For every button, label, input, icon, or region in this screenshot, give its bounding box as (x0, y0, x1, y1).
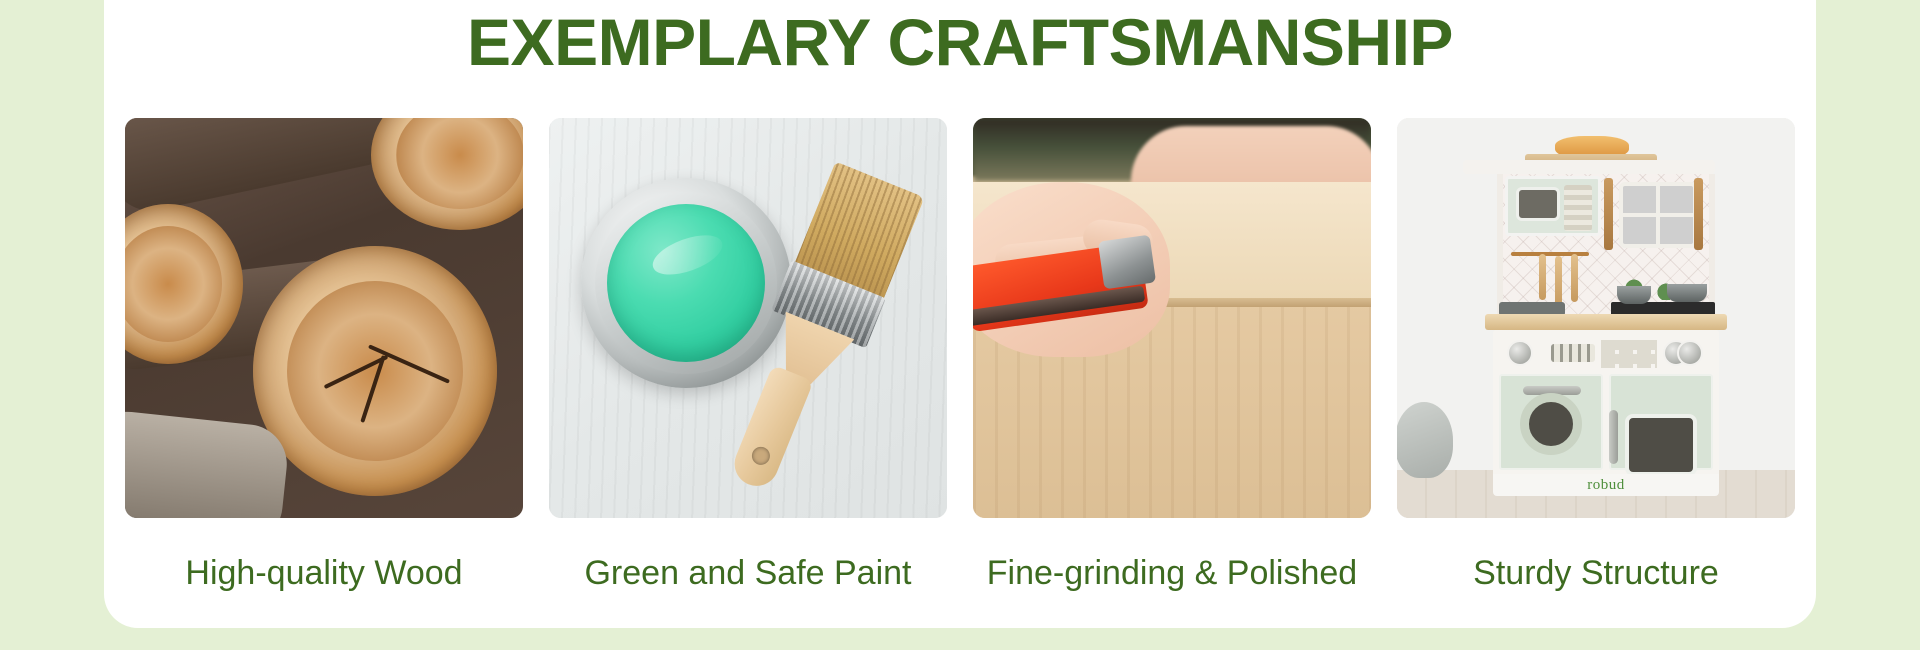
toy-pot (1667, 284, 1707, 302)
brand-logo: robud (1587, 477, 1625, 494)
utensil (1539, 254, 1546, 300)
log-bar (125, 118, 413, 218)
feature-caption: High-quality Wood (185, 554, 462, 593)
paint-gloss (648, 227, 727, 282)
toy-microwave (1505, 176, 1601, 236)
log-end-main (253, 246, 497, 496)
paint-photo (549, 118, 947, 518)
feature-tile-list: High-quality Wood (104, 118, 1816, 593)
logs-photo (125, 118, 523, 518)
sanding-photo (973, 118, 1371, 518)
control-panel (1493, 336, 1719, 370)
paint-illustration (549, 118, 947, 518)
door-handle (1609, 410, 1618, 464)
button-pad[interactable] (1601, 340, 1657, 368)
log-end (371, 118, 523, 230)
sanding-illustration (973, 118, 1371, 518)
toy-kitchen-illustration: robud (1397, 118, 1795, 518)
oven-window (1625, 414, 1697, 476)
feature-tile-structure[interactable]: robud Sturdy Structure (1397, 118, 1795, 593)
hutch-top (1463, 160, 1715, 174)
oven-display (1551, 344, 1595, 362)
feature-caption: Sturdy Structure (1473, 554, 1719, 593)
curtain-right (1694, 178, 1703, 250)
control-knob[interactable] (1677, 340, 1703, 366)
logs-illustration (125, 118, 523, 518)
feature-tile-wood[interactable]: High-quality Wood (125, 118, 523, 593)
cabinet-body (1493, 330, 1719, 484)
washer-porthole (1520, 393, 1582, 455)
feature-tile-paint[interactable]: Green and Safe Paint (549, 118, 947, 593)
washer-door[interactable] (1499, 374, 1603, 470)
brush-handle (728, 365, 814, 493)
toy-pan (1617, 286, 1651, 304)
control-knob[interactable] (1507, 340, 1533, 366)
sanding-block-clip (1098, 235, 1156, 290)
kitchen-unit: robud (1459, 146, 1729, 496)
page-title: EXEMPLARY CRAFTSMANSHIP (104, 6, 1816, 80)
plush-toy (1397, 402, 1453, 478)
countertop (1485, 314, 1727, 330)
curtain-left (1604, 178, 1613, 250)
oven-door[interactable] (1609, 374, 1713, 470)
decor-window (1619, 182, 1697, 248)
craftsmanship-banner: EXEMPLARY CRAFTSMANSHIP (0, 0, 1920, 650)
microwave-keypad (1564, 185, 1592, 231)
utensil (1555, 256, 1562, 308)
microwave-window (1516, 187, 1560, 221)
feature-caption: Green and Safe Paint (584, 554, 911, 593)
utensil (1571, 254, 1578, 302)
content-card: EXEMPLARY CRAFTSMANSHIP (104, 0, 1816, 628)
feature-tile-sanding[interactable]: Fine-grinding & Polished (973, 118, 1371, 593)
toy-kitchen-photo: robud (1397, 118, 1795, 518)
kitchen-base: robud (1493, 474, 1719, 496)
feature-caption: Fine-grinding & Polished (987, 554, 1357, 593)
